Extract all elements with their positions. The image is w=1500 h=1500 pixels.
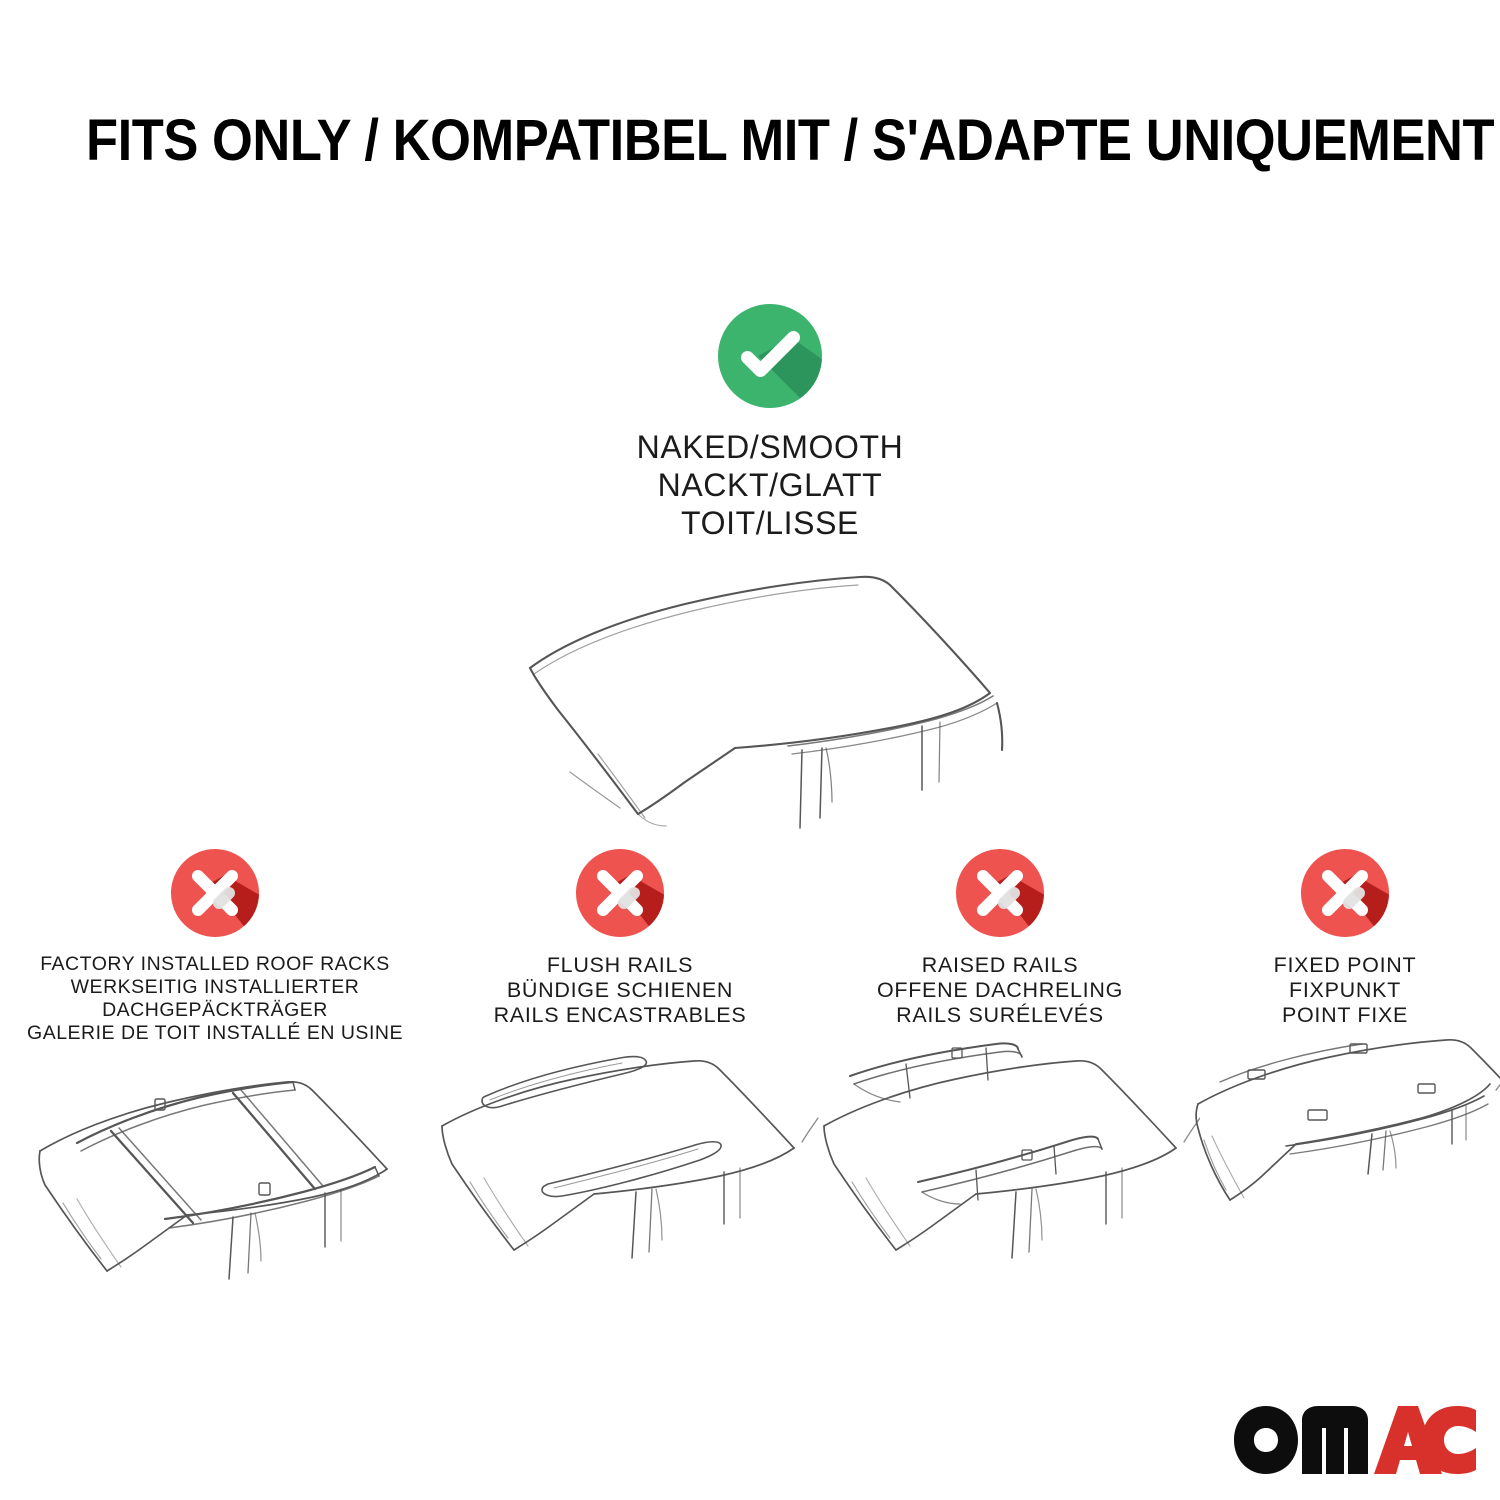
x-circle-icon: [952, 845, 1048, 941]
caption-line-1: FACTORY INSTALLED ROOF RACKS: [0, 953, 430, 976]
check-circle-icon: [714, 300, 826, 412]
fits-caption-line-2: NACKT/GLATT: [430, 466, 1110, 504]
caption-line-3: POINT FIXE: [1190, 1003, 1500, 1028]
flush-rails-illustration: [430, 1034, 820, 1264]
nofit-caption-factory-roof-racks: FACTORY INSTALLED ROOF RACKS WERKSEITIG …: [0, 953, 430, 1045]
caption-line-3: RAILS SURÉLEVÉS: [810, 1003, 1190, 1028]
page-title: FITS ONLY / KOMPATIBEL MIT / S'ADAPTE UN…: [86, 108, 1299, 174]
caption-line-4: GALERIE DE TOIT INSTALLÉ EN USINE: [0, 1022, 430, 1045]
x-circle-icon: [1297, 845, 1393, 941]
nofit-caption-raised-rails: RAISED RAILS OFFENE DACHRELING RAILS SUR…: [810, 953, 1190, 1028]
caption-line-1: FLUSH RAILS: [430, 953, 810, 978]
factory-roof-rack-illustration: [15, 1051, 415, 1281]
nofit-item-fixed-point: FIXED POINT FIXPUNKT POINT FIXE: [1190, 845, 1500, 1264]
caption-line-1: RAISED RAILS: [810, 953, 1190, 978]
caption-line-1: FIXED POINT: [1190, 953, 1500, 978]
does-not-fit-row: FACTORY INSTALLED ROOF RACKS WERKSEITIG …: [0, 845, 1500, 1281]
omac-logo: [1232, 1402, 1476, 1476]
fits-caption-line-3: TOIT/LISSE: [430, 504, 1110, 542]
fits-caption-line-1: NAKED/SMOOTH: [430, 428, 1110, 466]
nofit-caption-fixed-point: FIXED POINT FIXPUNKT POINT FIXE: [1190, 953, 1500, 1028]
x-circle-icon: [572, 845, 668, 941]
nofit-caption-flush-rails: FLUSH RAILS BÜNDIGE SCHIENEN RAILS ENCAS…: [430, 953, 810, 1028]
caption-line-2: WERKSEITIG INSTALLIERTER: [0, 976, 430, 999]
caption-line-2: OFFENE DACHRELING: [810, 978, 1190, 1003]
raised-rails-illustration: [810, 1034, 1200, 1264]
logo-letter-o: [1234, 1406, 1298, 1474]
fits-caption: NAKED/SMOOTH NACKT/GLATT TOIT/LISSE: [430, 428, 1110, 542]
nofit-item-flush-rails: FLUSH RAILS BÜNDIGE SCHIENEN RAILS ENCAS…: [430, 845, 810, 1264]
caption-line-3: DACHGEPÄCKTRÄGER: [0, 999, 430, 1022]
caption-line-3: RAILS ENCASTRABLES: [430, 1003, 810, 1028]
logo-letter-m: [1302, 1406, 1368, 1474]
nofit-item-factory-roof-racks: FACTORY INSTALLED ROOF RACKS WERKSEITIG …: [0, 845, 430, 1281]
fits-section: NAKED/SMOOTH NACKT/GLATT TOIT/LISSE: [430, 300, 1110, 830]
fixed-point-illustration: [1190, 1034, 1500, 1264]
caption-line-2: BÜNDIGE SCHIENEN: [430, 978, 810, 1003]
caption-line-2: FIXPUNKT: [1190, 978, 1500, 1003]
naked-smooth-roof-illustration: [470, 550, 1070, 830]
x-circle-icon: [167, 845, 263, 941]
nofit-item-raised-rails: RAISED RAILS OFFENE DACHRELING RAILS SUR…: [810, 845, 1190, 1264]
